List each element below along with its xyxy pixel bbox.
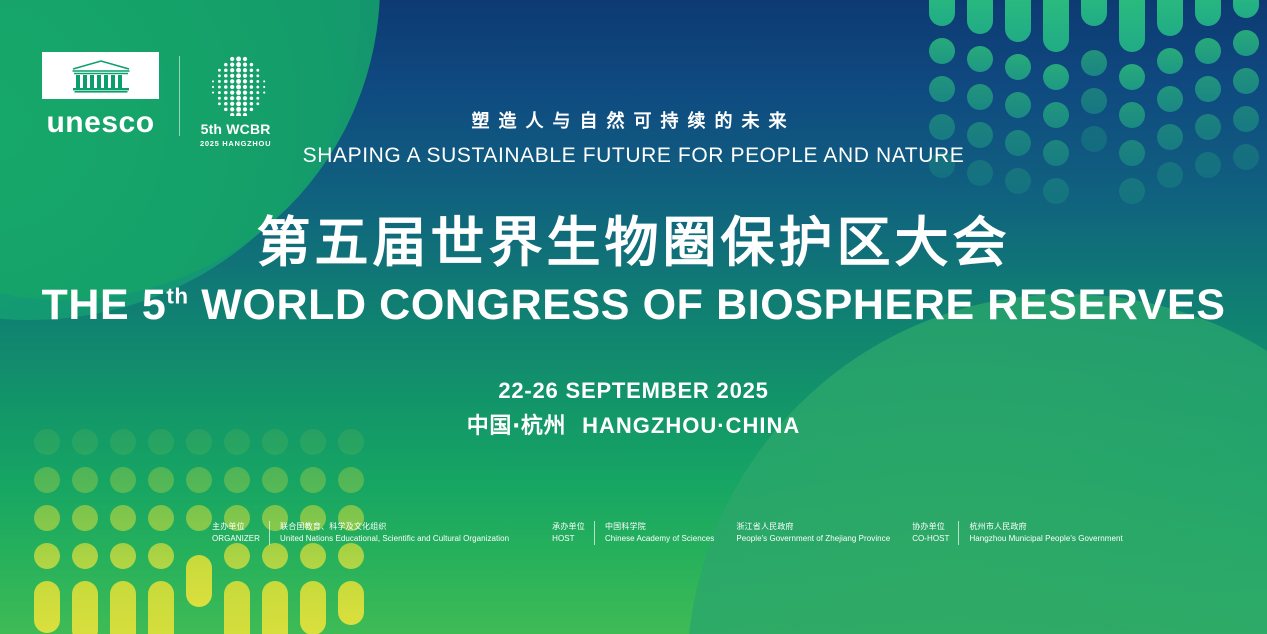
- credit-org: 浙江省人民政府People's Government of Zhejiang P…: [736, 521, 890, 545]
- credit-org: 中国科学院Chinese Academy of Sciences: [594, 521, 714, 545]
- credits-row: 主办单位ORGANIZER联合国教育、科学及文化组织United Nations…: [212, 521, 1123, 545]
- credit-item: 主办单位ORGANIZER联合国教育、科学及文化组织United Nations…: [212, 521, 509, 545]
- credit-org-en: Hangzhou Municipal People's Government: [969, 533, 1122, 545]
- credit-role-cn: 承办单位: [552, 521, 585, 533]
- credit-org-cn: 联合国教育、科学及文化组织: [280, 521, 509, 533]
- credit-item: 承办单位HOST中国科学院Chinese Academy of Sciences: [552, 521, 714, 545]
- greek-temple-icon: [69, 58, 133, 94]
- unesco-emblem-plate: [42, 52, 159, 99]
- event-place: 中国·杭州HANGZHOU·CHINA: [0, 412, 1267, 441]
- credit-role: 承办单位HOST: [552, 521, 594, 545]
- credit-org-en: United Nations Educational, Scientific a…: [280, 533, 509, 545]
- credit-org-cn: 杭州市人民政府: [969, 521, 1122, 533]
- credit-item: 协办单位CO-HOST杭州市人民政府Hangzhou Municipal Peo…: [912, 521, 1123, 545]
- credit-role-cn: 协办单位: [912, 521, 949, 533]
- tagline-en: SHAPING A SUSTAINABLE FUTURE FOR PEOPLE …: [0, 141, 1267, 170]
- credit-role: 协办单位CO-HOST: [912, 521, 958, 545]
- credit-role: 主办单位ORGANIZER: [212, 521, 269, 545]
- title-en-ordinal: th: [166, 284, 188, 309]
- event-place-cn: 中国·杭州: [467, 414, 566, 439]
- title-en-pre: THE 5: [41, 281, 166, 329]
- tagline-cn: 塑造人与自然可持续的未来: [0, 108, 1267, 135]
- title-cn: 第五届世界生物圈保护区大会: [0, 212, 1267, 275]
- credit-role-en: CO-HOST: [912, 533, 949, 545]
- credit-org-en: Chinese Academy of Sciences: [605, 533, 714, 545]
- title-en-post: WORLD CONGRESS OF BIOSPHERE RESERVES: [189, 281, 1226, 329]
- banner-center-block: 塑造人与自然可持续的未来 SHAPING A SUSTAINABLE FUTUR…: [0, 108, 1267, 440]
- credit-org: 杭州市人民政府Hangzhou Municipal People's Gover…: [958, 521, 1122, 545]
- credit-org-cn: 浙江省人民政府: [736, 521, 890, 533]
- event-place-en: HANGZHOU·CHINA: [582, 413, 800, 438]
- credit-role-en: HOST: [552, 533, 585, 545]
- title-en: THE 5th WORLD CONGRESS OF BIOSPHERE RESE…: [0, 281, 1267, 329]
- credit-role-cn: 主办单位: [212, 521, 260, 533]
- event-date: 22-26 SEPTEMBER 2025: [0, 377, 1267, 405]
- dot-matrix-globe-icon: [206, 54, 266, 116]
- credit-role-en: ORGANIZER: [212, 533, 260, 545]
- credit-org: 联合国教育、科学及文化组织United Nations Educational,…: [269, 521, 509, 545]
- credit-org-cn: 中国科学院: [605, 521, 714, 533]
- credit-org-en: People's Government of Zhejiang Province: [736, 533, 890, 545]
- credit-item: 浙江省人民政府People's Government of Zhejiang P…: [736, 521, 890, 545]
- conference-banner: unesco 5th WCBR 2025 HANGZHOU 塑造人与自然可持续的…: [0, 0, 1267, 634]
